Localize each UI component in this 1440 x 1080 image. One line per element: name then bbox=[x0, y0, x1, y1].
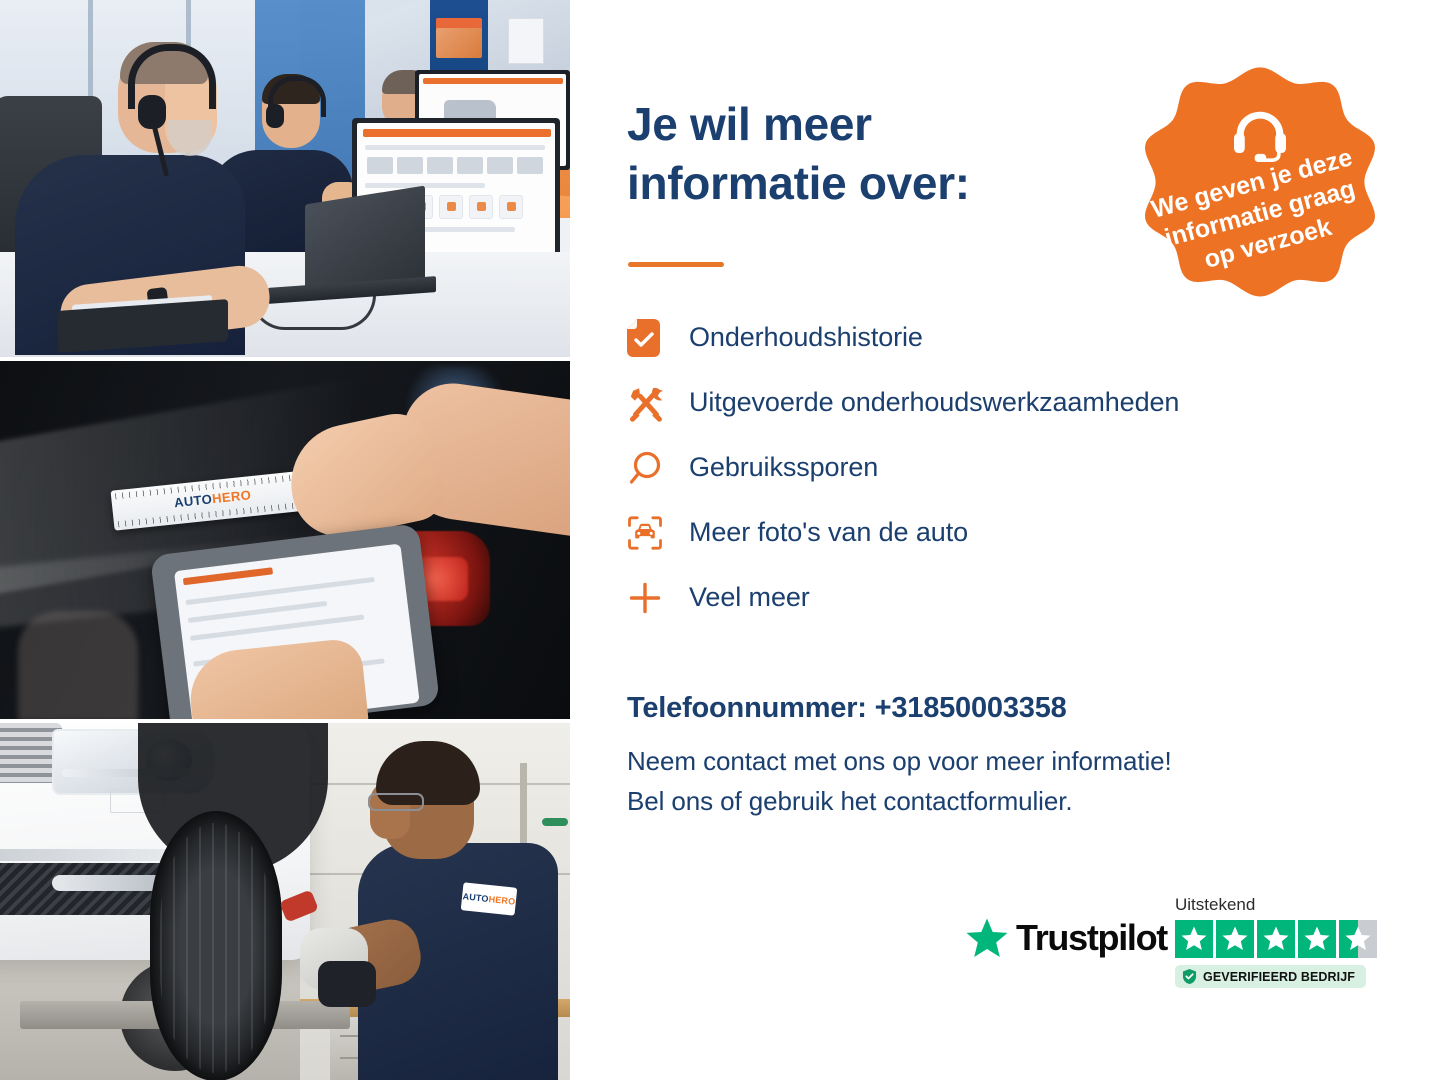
background-person bbox=[18, 611, 138, 718]
inspection-photo: AUTOHERO bbox=[0, 361, 570, 718]
trustpilot-star-icon bbox=[965, 917, 1009, 959]
headset-earcup bbox=[266, 104, 284, 128]
trustpilot-wordmark: Trustpilot bbox=[1016, 917, 1167, 959]
verified-label: GEVERIFIEERD BEDRIJF bbox=[1203, 970, 1355, 984]
tools-icon bbox=[627, 384, 689, 422]
trustpilot-logo: Trustpilot bbox=[965, 917, 1167, 959]
autohero-shirt-logo: AUTOHERO bbox=[461, 882, 518, 915]
promo-banner: AUTOHERO bbox=[0, 0, 1440, 1080]
feature-item-veel-meer: Veel meer bbox=[627, 565, 1387, 630]
star-half bbox=[1339, 920, 1377, 958]
feature-label: Meer foto's van de auto bbox=[689, 517, 968, 548]
plus-icon bbox=[627, 580, 689, 616]
headset-icon bbox=[1231, 110, 1289, 162]
trustpilot-rating: Uitstekend GEVERIFIEERD BEDRIJF bbox=[1175, 895, 1385, 989]
feature-item-onderhoudshistorie: Onderhoudshistorie bbox=[627, 305, 1387, 370]
contact-line-2: Bel ons of gebruik het contactformulier. bbox=[627, 782, 1387, 822]
mechanic-glasses bbox=[368, 793, 424, 811]
feature-item-onderhoudswerkzaamheden: Uitgevoerde onderhoudswerkzaamheden bbox=[627, 370, 1387, 435]
logo-hero: HERO bbox=[211, 488, 252, 507]
document-check-icon bbox=[627, 319, 689, 357]
green-hose bbox=[542, 818, 568, 826]
car-scan-icon bbox=[627, 515, 689, 551]
headset-earcup bbox=[138, 95, 166, 129]
tire-tread bbox=[160, 823, 272, 1073]
content-panel: Je wil meer informatie over: We geven je… bbox=[570, 0, 1440, 1080]
rating-label: Uitstekend bbox=[1175, 895, 1385, 915]
title-underline bbox=[628, 262, 724, 267]
star-filled bbox=[1298, 920, 1336, 958]
star-filled bbox=[1257, 920, 1295, 958]
feature-item-gebruikssporen: Gebruikssporen bbox=[627, 435, 1387, 500]
logo-auto: AUTO bbox=[462, 891, 489, 904]
trustpilot-widget[interactable]: Trustpilot Uitstekend GEVERIFIEERD BED bbox=[965, 895, 1385, 1010]
verified-badge: GEVERIFIEERD BEDRIJF bbox=[1175, 965, 1366, 988]
work-glove-cuff bbox=[318, 961, 376, 1007]
page-title: Je wil meer informatie over: bbox=[627, 95, 1097, 213]
contact-line-1: Neem contact met ons op voor meer inform… bbox=[627, 742, 1387, 782]
feature-label: Gebruikssporen bbox=[689, 452, 878, 483]
star-rating bbox=[1175, 920, 1385, 958]
feature-label: Veel meer bbox=[689, 582, 810, 613]
phone-number: Telefoonnummer: +31850003358 bbox=[627, 692, 1067, 725]
call-center-photo bbox=[0, 0, 570, 357]
headline-line-1: Je wil meer bbox=[627, 95, 1097, 154]
workshop-photo: AUTOHERO bbox=[0, 723, 570, 1080]
star-filled bbox=[1216, 920, 1254, 958]
wall-paper bbox=[508, 18, 544, 64]
logo-hero: HERO bbox=[488, 894, 516, 907]
feature-label: Uitgevoerde onderhoudswerkzaamheden bbox=[689, 387, 1179, 418]
contact-text: Neem contact met ons op voor meer inform… bbox=[627, 742, 1387, 821]
shield-check-icon bbox=[1182, 969, 1197, 984]
magnifier-icon bbox=[627, 450, 689, 486]
feature-item-meer-fotos: Meer foto's van de auto bbox=[627, 500, 1387, 565]
headline-line-2: informatie over: bbox=[627, 154, 1097, 213]
logo-auto: AUTO bbox=[173, 492, 213, 511]
poster-photo bbox=[436, 28, 482, 58]
star-filled bbox=[1175, 920, 1213, 958]
photo-strip: AUTOHERO bbox=[0, 0, 570, 1080]
feature-label: Onderhoudshistorie bbox=[689, 322, 923, 353]
feature-list: Onderhoudshistorie Uitgevoerd bbox=[627, 305, 1387, 630]
